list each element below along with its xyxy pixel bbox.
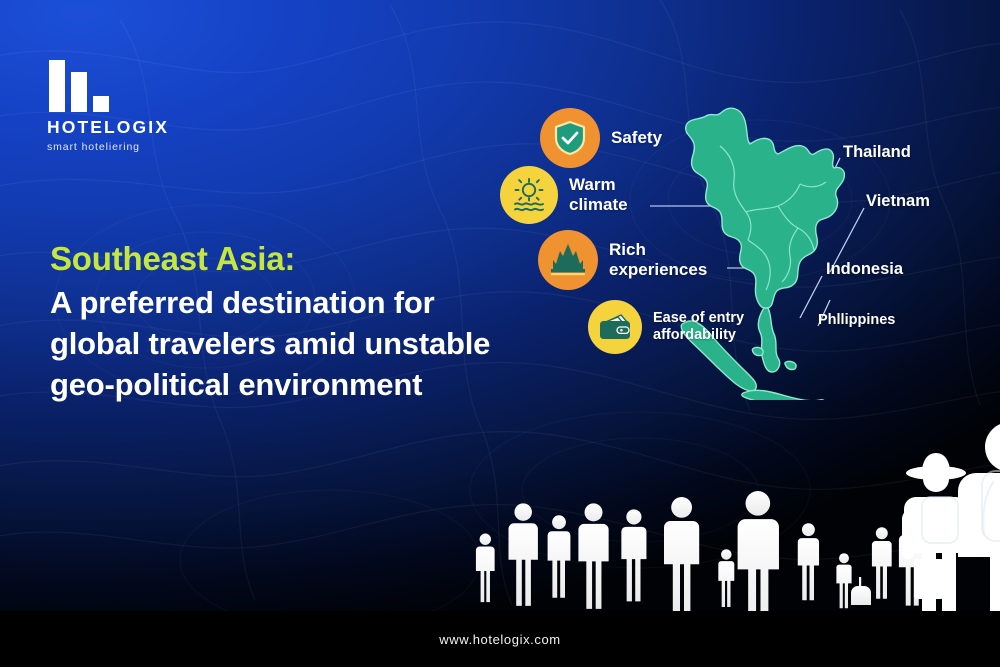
- hotelogix-bars-logo-icon: [47, 60, 111, 112]
- feature-warm-climate: Warm climate: [500, 166, 628, 224]
- headline-block: Southeast Asia: A preferred destination …: [50, 238, 520, 406]
- sun-waves-icon: [510, 176, 548, 214]
- shield-check-icon: [553, 120, 587, 156]
- map-label-thailand: Thailand: [843, 143, 911, 162]
- footer-bar: www.hotelogix.com: [0, 611, 1000, 667]
- headline-accent-line: Southeast Asia:: [50, 238, 520, 280]
- map-label-vietnam: Vietnam: [866, 192, 930, 211]
- map-label-indonesia: Indonesia: [826, 260, 903, 279]
- map-svg: [660, 100, 1000, 400]
- feature-safety: Safety: [540, 108, 662, 168]
- crowd-svg: [470, 411, 1000, 611]
- traveler-crowd-silhouettes: [470, 411, 1000, 611]
- feature-ease-label: Ease of entry affordability: [653, 310, 744, 344]
- feature-safety-badge: [540, 108, 600, 168]
- brand-logo[interactable]: HOTELOGIX smart hoteliering: [47, 60, 197, 152]
- feature-rich-label: Rich experiences: [609, 240, 707, 280]
- feature-rich-badge: [538, 230, 598, 290]
- feature-safety-label: Safety: [611, 128, 662, 148]
- map-label-philippines: Phllippines: [818, 312, 895, 328]
- headline-body: A preferred destination for global trave…: [50, 282, 520, 406]
- poster-canvas: HOTELOGIX smart hoteliering Southeast As…: [0, 0, 1000, 667]
- footer-website[interactable]: www.hotelogix.com: [439, 632, 560, 647]
- feature-rich-experiences: Rich experiences: [538, 230, 707, 290]
- logo-tagline: smart hoteliering: [47, 142, 197, 153]
- feature-warm-badge: [500, 166, 558, 224]
- feature-ease-badge: [588, 300, 642, 354]
- temple-icon: [549, 243, 587, 277]
- feature-warm-label: Warm climate: [569, 175, 628, 215]
- southeast-asia-map: [660, 100, 1000, 400]
- logo-wordmark: HOTELOGIX: [47, 119, 197, 137]
- feature-ease-of-entry: Ease of entry affordability: [588, 300, 744, 354]
- wallet-icon: [597, 311, 633, 343]
